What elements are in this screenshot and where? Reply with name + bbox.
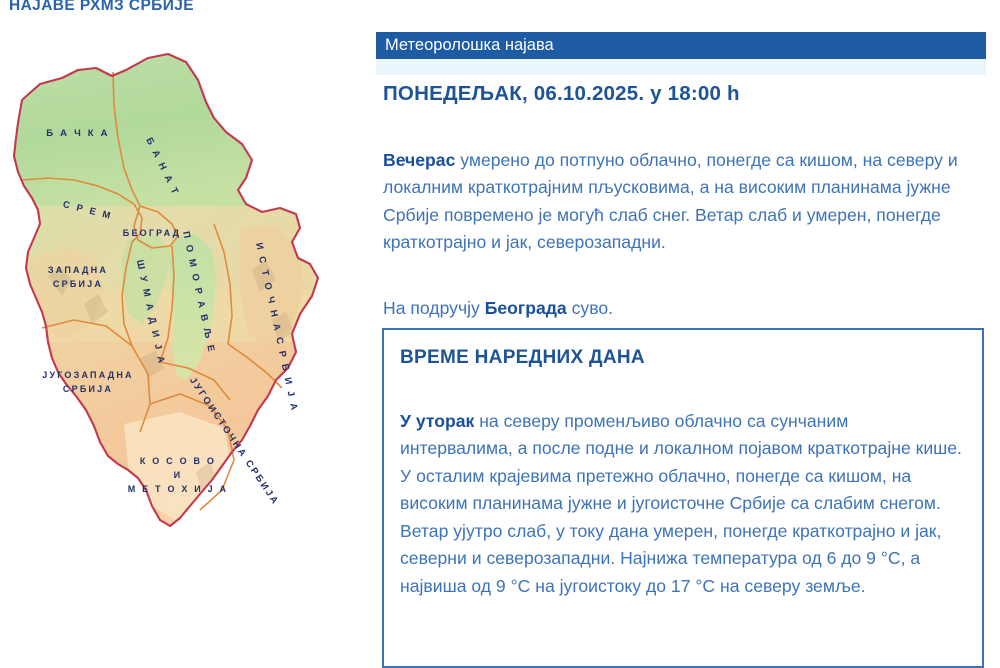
map-label-zapadna-srbija: ЗАПАДНА bbox=[48, 265, 108, 275]
forecast-header-label: Метеоролошка најава bbox=[376, 37, 554, 54]
forecast-header-bar: Метеоролошка најава bbox=[376, 32, 986, 59]
belgrade-bold: Београда bbox=[485, 298, 567, 318]
belgrade-prefix: На подручју bbox=[383, 298, 485, 318]
forecast-header-strip bbox=[376, 59, 986, 75]
map-label-beograd: БЕОГРАД bbox=[123, 228, 181, 238]
map-label-jugozapadna: ЈУГОЗАПАДНА bbox=[42, 370, 134, 380]
next-days-title: ВРЕМЕ НАРЕДНИХ ДАНА bbox=[400, 347, 645, 369]
map-svg: Б А Ч К АБ А Н А ТС Р Е МБЕОГРАДЗАПАДНАС… bbox=[0, 28, 368, 553]
next-days-lead: У уторак bbox=[400, 411, 474, 431]
forecast-paragraph-belgrade: На подручју Београда суво. bbox=[383, 295, 983, 323]
map-label-kosovo3: М Е Т О Х И Ј А bbox=[128, 484, 228, 494]
map-label-backa: Б А Ч К А bbox=[46, 128, 109, 139]
map-label-zapadna-srbija2: СРБИЈА bbox=[53, 279, 103, 289]
next-days-box: ВРЕМЕ НАРЕДНИХ ДАНА У уторак на северу п… bbox=[382, 328, 984, 668]
forecast-content: Метеоролошка најава ПОНЕДЕЉАК, 06.10.202… bbox=[375, 0, 1000, 660]
next-days-text: на северу променљиво облачно са сунчаним… bbox=[400, 411, 962, 596]
map-label-kosovo: К О С О В О bbox=[140, 456, 216, 466]
map-label-kosovo2: И bbox=[174, 470, 183, 480]
next-days-paragraph: У уторак на северу променљиво облачно са… bbox=[400, 408, 965, 601]
forecast-tonight-lead: Вечерас bbox=[383, 150, 455, 170]
page-title: НАЈАВЕ РХМЗ СРБИЈЕ bbox=[9, 0, 194, 15]
forecast-date-line: ПОНЕДЕЉАК, 06.10.2025. у 18:00 h bbox=[383, 82, 740, 106]
serbia-region-map: Б А Ч К АБ А Н А ТС Р Е МБЕОГРАДЗАПАДНАС… bbox=[0, 28, 368, 553]
forecast-paragraph-tonight: Вечерас умерено до потпуно облачно, поне… bbox=[383, 147, 983, 257]
forecast-tonight-text: умерено до потпуно облачно, понегде са к… bbox=[383, 150, 958, 253]
belgrade-suffix: суво. bbox=[567, 298, 613, 318]
map-label-jugozapadna2: СРБИЈА bbox=[63, 384, 113, 394]
